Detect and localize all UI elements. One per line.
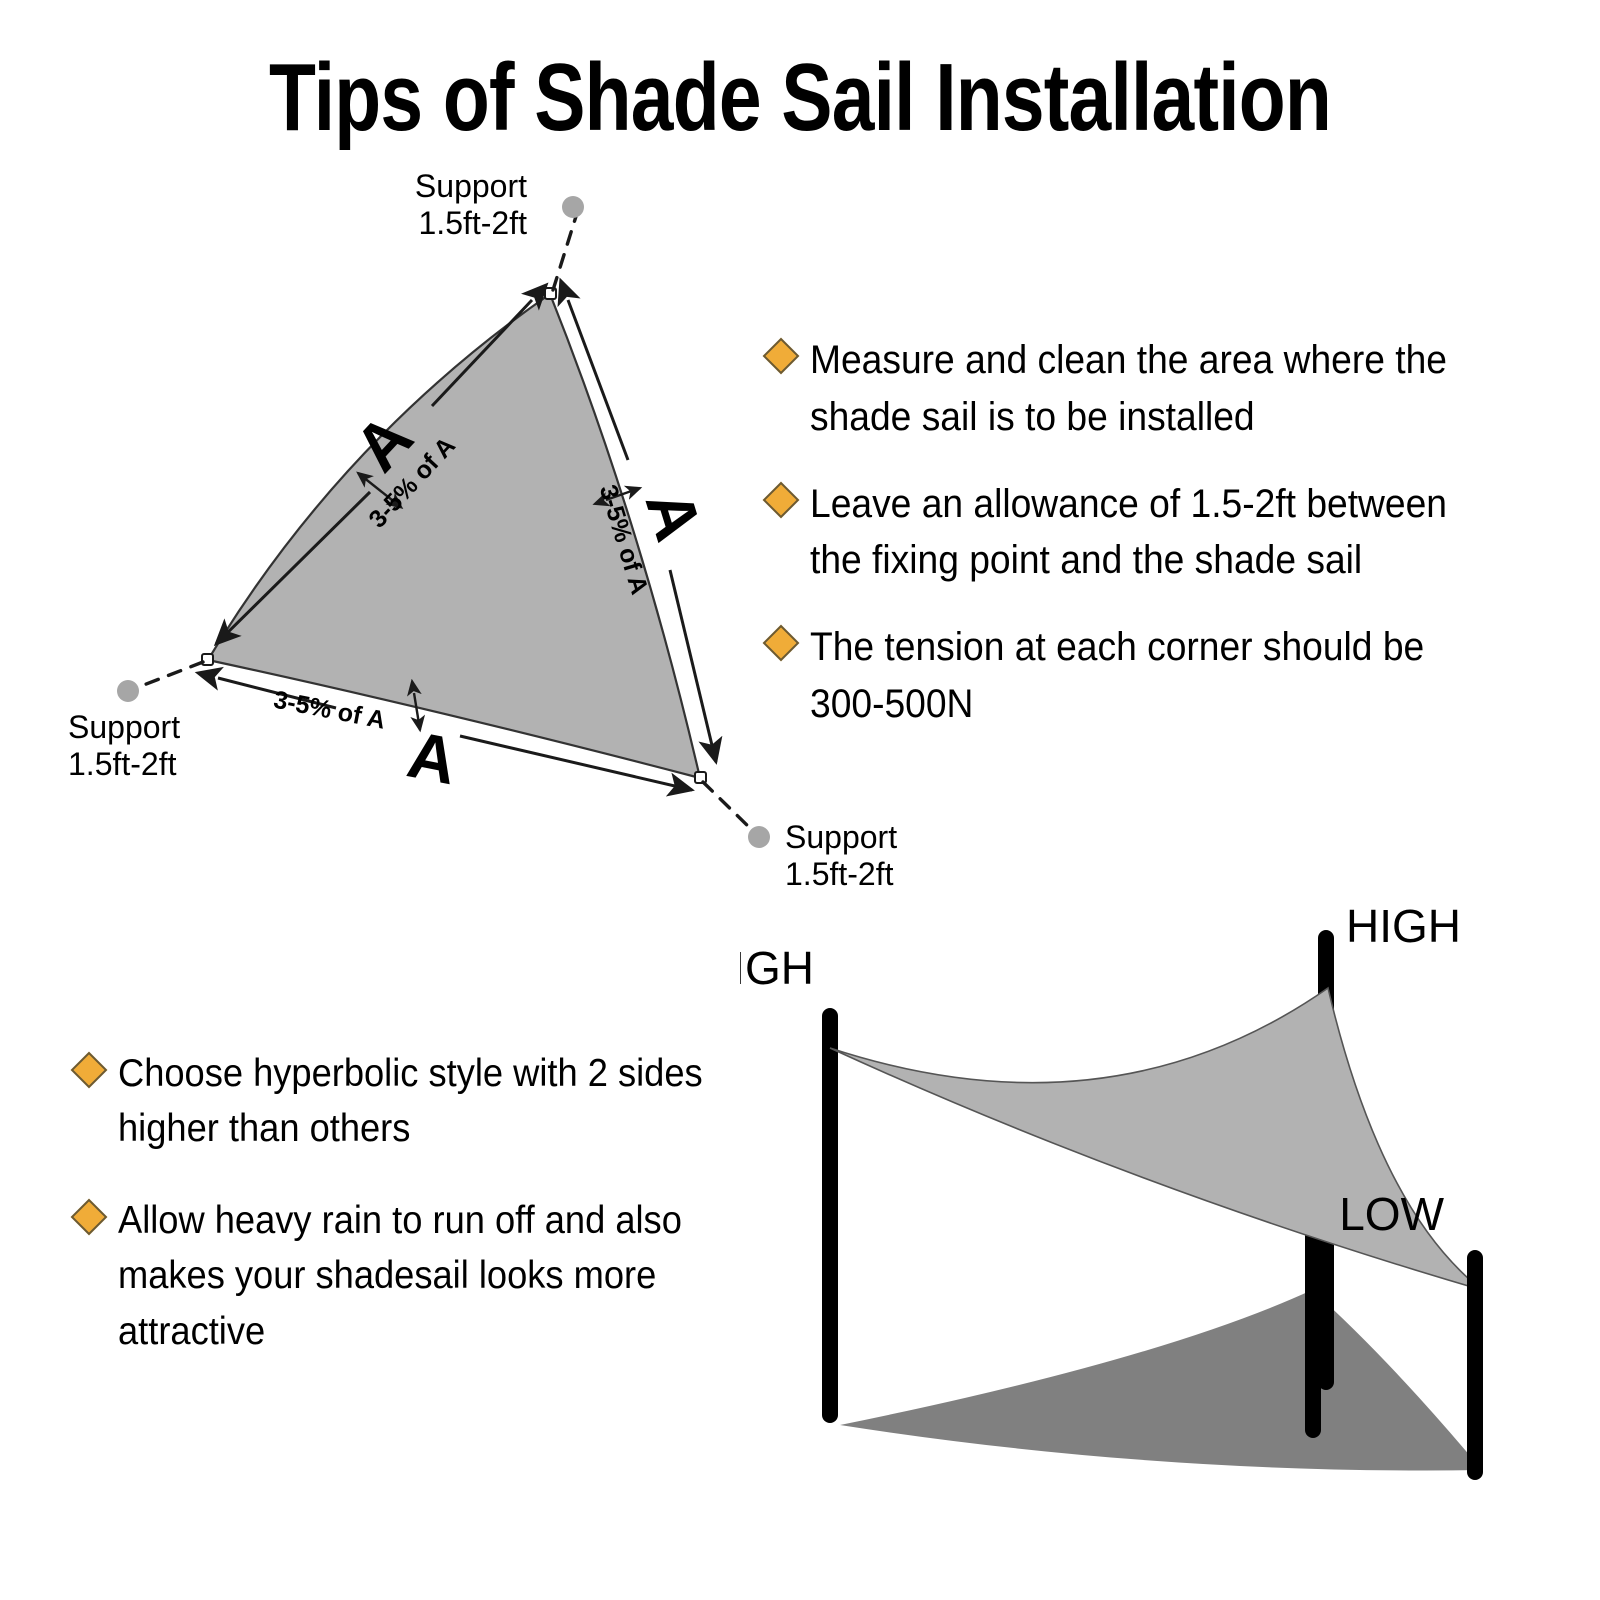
tips-list-right: Measure and clean the area where the sha… bbox=[768, 332, 1558, 763]
dimension-label-right-A: A bbox=[632, 482, 717, 549]
list-item-text: Choose hyperbolic style with 2 sides hig… bbox=[118, 1046, 749, 1157]
post-left: HIGH bbox=[740, 942, 838, 1423]
support-bottom: Support 1.5ft-2ft bbox=[703, 782, 897, 890]
support-bottom-label-line2: 1.5ft-2ft bbox=[785, 856, 894, 890]
list-item-text: Leave an allowance of 1.5-2ft between th… bbox=[810, 476, 1506, 590]
hyperbolic-sail-shape bbox=[830, 988, 1482, 1290]
post-right-high-label: HIGH bbox=[1346, 900, 1461, 952]
support-dot-bottom bbox=[748, 826, 770, 848]
list-item-text: Allow heavy rain to run off and also mak… bbox=[118, 1193, 749, 1359]
sail-ground-shadow bbox=[840, 1290, 1482, 1470]
list-item: The tension at each corner should be 300… bbox=[768, 619, 1558, 733]
hyperbolic-sail-diagram: HIGH HIGH LOW bbox=[740, 890, 1590, 1530]
support-dot-left bbox=[117, 680, 139, 702]
support-bottom-label-line1: Support bbox=[785, 819, 897, 855]
page-title: Tips of Shade Sail Installation bbox=[160, 48, 1440, 149]
diamond-bullet-icon bbox=[71, 1198, 108, 1235]
list-item-text: The tension at each corner should be 300… bbox=[810, 619, 1506, 733]
diamond-bullet-icon bbox=[71, 1052, 108, 1089]
list-item: Choose hyperbolic style with 2 sides hig… bbox=[76, 1046, 796, 1157]
diamond-bullet-icon bbox=[763, 338, 800, 375]
list-item-text: Measure and clean the area where the sha… bbox=[810, 332, 1506, 446]
support-dot-top bbox=[562, 196, 584, 218]
tips-list-bottom-left: Choose hyperbolic style with 2 sides hig… bbox=[76, 1046, 796, 1395]
list-item: Measure and clean the area where the sha… bbox=[768, 332, 1558, 446]
post-low-label: LOW bbox=[1339, 1188, 1444, 1240]
post-left-label: HIGH bbox=[740, 942, 814, 994]
list-item: Allow heavy rain to run off and also mak… bbox=[76, 1193, 796, 1359]
support-top-label-line1: Support bbox=[415, 170, 527, 204]
support-top-label-line2: 1.5ft-2ft bbox=[419, 205, 528, 241]
diamond-bullet-icon bbox=[763, 481, 800, 518]
diamond-bullet-icon bbox=[763, 625, 800, 662]
support-left-label-line1: Support bbox=[68, 709, 180, 745]
support-left: Support 1.5ft-2ft bbox=[68, 662, 203, 782]
list-item: Leave an allowance of 1.5-2ft between th… bbox=[768, 476, 1558, 590]
support-top: Support 1.5ft-2ft bbox=[415, 170, 584, 290]
support-left-label-line2: 1.5ft-2ft bbox=[68, 746, 177, 782]
infographic-page: Tips of Shade Sail Installation bbox=[0, 0, 1600, 1600]
dimension-label-bottom-A: A bbox=[402, 717, 463, 799]
